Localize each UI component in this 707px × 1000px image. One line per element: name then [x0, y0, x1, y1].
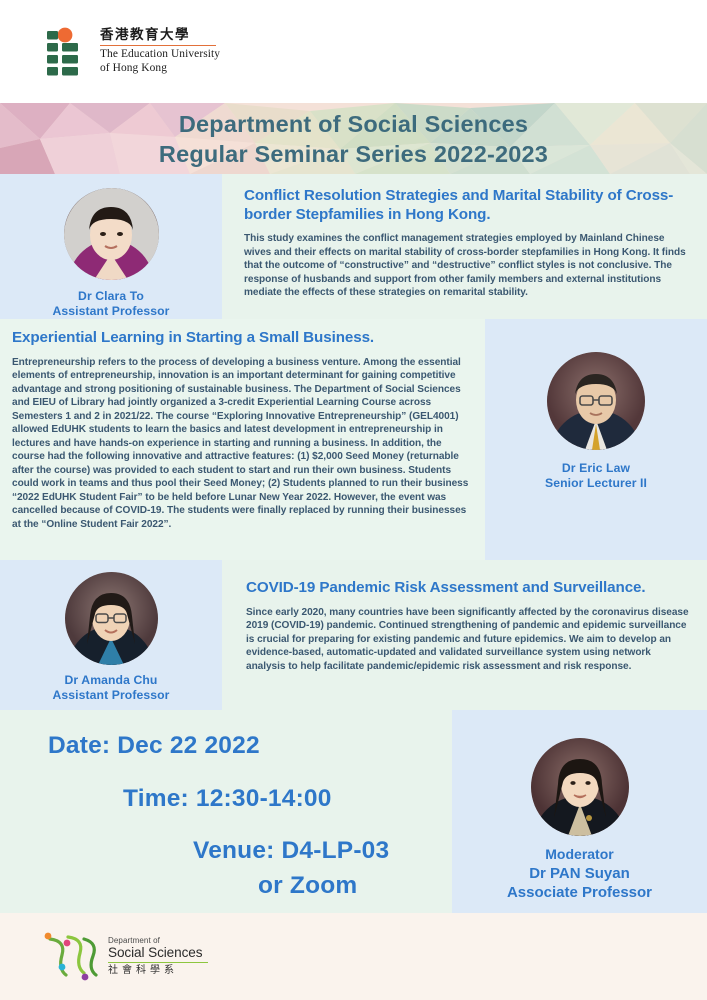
event-venue: Venue: D4-LP-03: [0, 839, 426, 864]
speaker-portrait-icon: [547, 352, 645, 450]
social-sciences-logo-icon: [40, 929, 102, 984]
talk-content-3: COVID-19 Pandemic Risk Assessment and Su…: [222, 560, 707, 710]
talk-content-1: Conflict Resolution Strategies and Marit…: [222, 174, 707, 319]
talk-title-2: Experiential Learning in Starting a Smal…: [12, 329, 473, 348]
speaker-block-3: Dr Amanda Chu Assistant Professor: [0, 560, 222, 710]
speaker-name-1: Dr Clara To Assistant Professor: [52, 289, 169, 320]
eduhk-logo-text: 香港教育大學 The Education University of Hong …: [100, 28, 220, 75]
seminar-poster: 香港教育大學 The Education University of Hong …: [0, 0, 707, 1000]
talk-abstract-3: Since early 2020, many countries have be…: [246, 606, 693, 674]
talk-title-3: COVID-19 Pandemic Risk Assessment and Su…: [246, 579, 693, 598]
moderator-name: Dr PAN Suyan Associate Professor: [507, 865, 652, 903]
speaker-name-2: Dr Eric Law Senior Lecturer II: [545, 461, 647, 492]
eduhk-logo: 香港教育大學 The Education University of Hong …: [45, 27, 220, 77]
moderator-portrait-icon: [531, 738, 629, 836]
event-venue-alt: or Zoom: [0, 874, 426, 899]
university-name-en-line1: The Education University: [100, 48, 220, 61]
talk-section-3: Dr Amanda Chu Assistant Professor COVID-…: [0, 560, 707, 710]
talk-section-1: Dr Clara To Assistant Professor Conflict…: [0, 174, 707, 319]
eduhk-logo-icon: [45, 27, 91, 77]
talk-abstract-2: Entrepreneurship refers to the process o…: [12, 356, 473, 532]
talk-abstract-1: This study examines the conflict managem…: [244, 232, 693, 300]
event-time: Time: 12:30-14:00: [0, 787, 426, 812]
event-details-section: Date: Dec 22 2022 Time: 12:30-14:00 Venu…: [0, 710, 707, 913]
university-name-cn: 香港教育大學: [100, 28, 220, 42]
social-sciences-logo: Department of Social Sciences 社會科學系: [40, 929, 208, 984]
moderator-block: Moderator Dr PAN Suyan Associate Profess…: [452, 710, 707, 913]
dept-divider: [108, 962, 208, 964]
talk-section-2: Experiential Learning in Starting a Smal…: [0, 319, 707, 560]
poster-footer: Department of Social Sciences 社會科學系 Enqu…: [0, 913, 707, 1000]
speaker-portrait-icon: [65, 572, 158, 665]
banner-title: Department of Social Sciences Regular Se…: [0, 103, 707, 169]
talk-title-1: Conflict Resolution Strategies and Marit…: [244, 187, 693, 224]
speaker-block-1: Dr Clara To Assistant Professor: [0, 174, 222, 319]
logo-divider: [100, 45, 216, 47]
speaker-portrait-icon: [64, 188, 159, 280]
banner-title-line1: Department of Social Sciences: [0, 109, 707, 139]
banner-title-line2: Regular Seminar Series 2022-2023: [0, 139, 707, 169]
dept-name-cn: 社會科學系: [108, 965, 208, 976]
moderator-label: Moderator: [545, 846, 613, 862]
speaker-block-2: Dr Eric Law Senior Lecturer II: [485, 319, 707, 560]
talk-content-2: Experiential Learning in Starting a Smal…: [0, 319, 485, 560]
dept-name: Social Sciences: [108, 946, 208, 961]
poster-banner: Department of Social Sciences Regular Se…: [0, 103, 707, 174]
university-logo-bar: 香港教育大學 The Education University of Hong …: [0, 0, 707, 103]
speaker-name-3: Dr Amanda Chu Assistant Professor: [52, 673, 169, 704]
event-date: Date: Dec 22 2022: [0, 734, 426, 759]
university-name-en-line2: of Hong Kong: [100, 62, 220, 75]
event-details: Date: Dec 22 2022 Time: 12:30-14:00 Venu…: [0, 710, 452, 913]
social-sciences-logo-text: Department of Social Sciences 社會科學系: [108, 937, 208, 976]
